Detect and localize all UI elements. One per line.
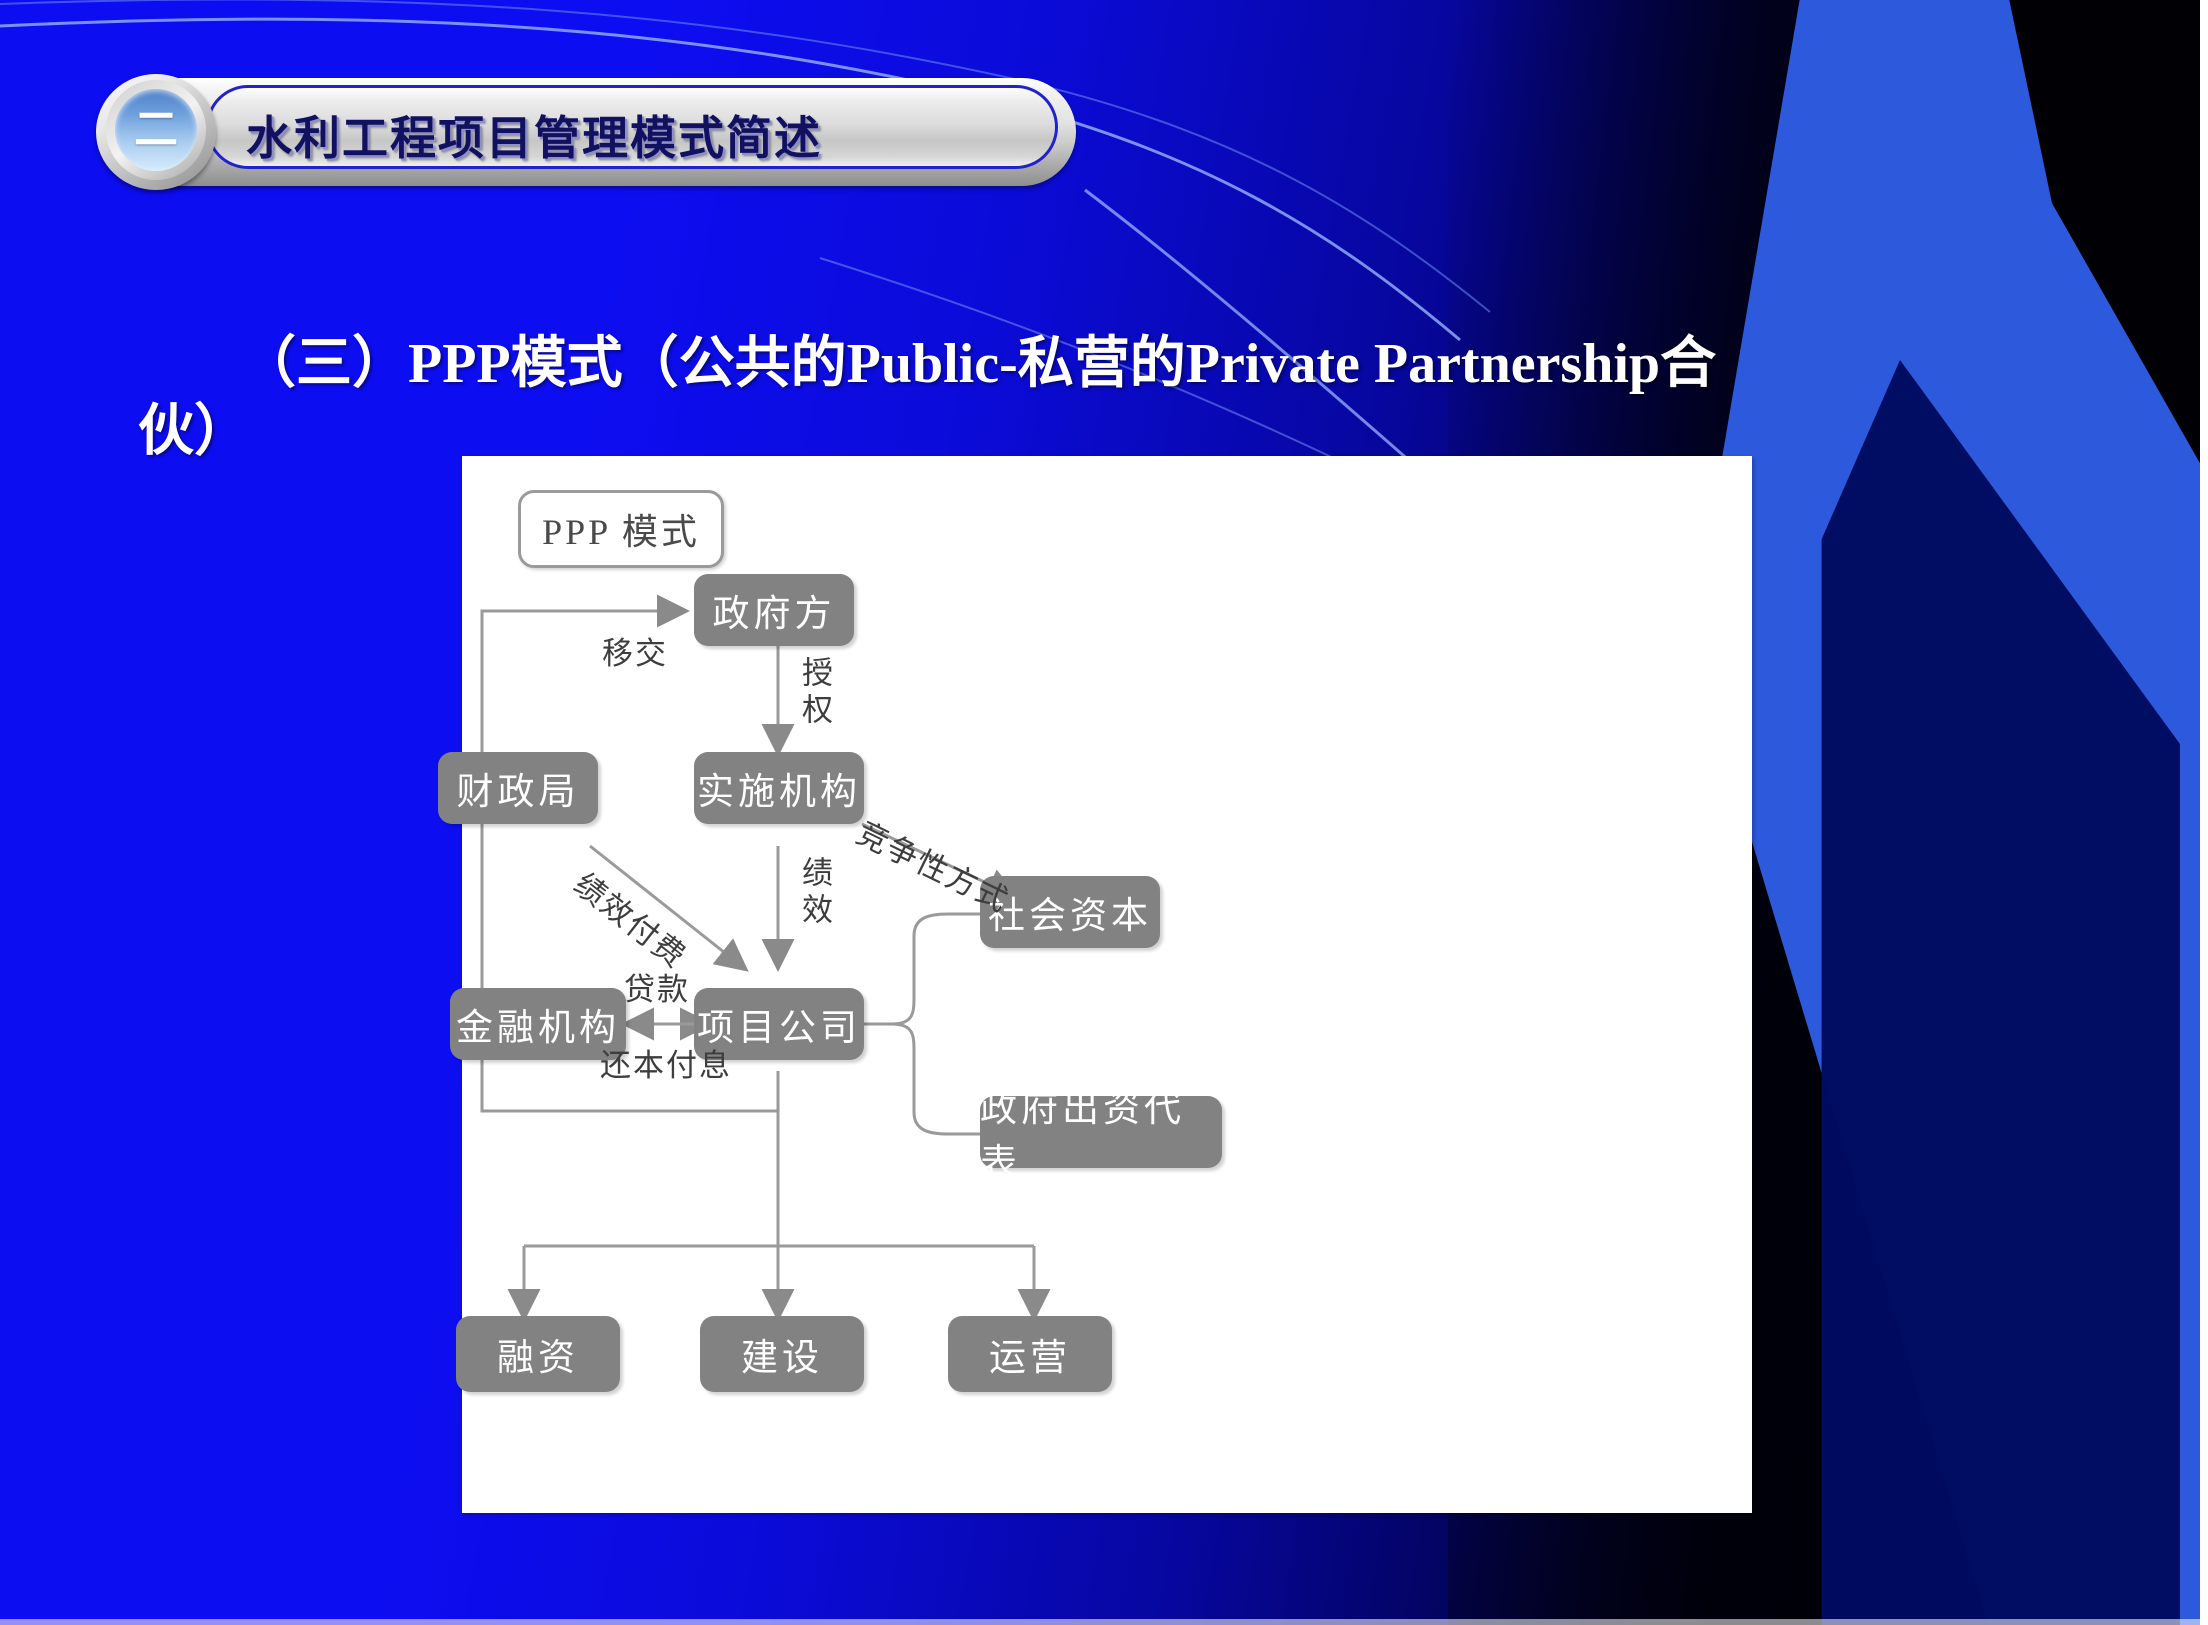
- node-financial-institution-label: 金融机构: [456, 997, 620, 1051]
- slide-bottom-edge: [0, 1619, 2208, 1625]
- diagram-title-label: PPP 模式: [542, 503, 700, 555]
- node-operation-label: 运营: [989, 1327, 1071, 1381]
- edge-label-loan: 贷款: [624, 964, 690, 1009]
- node-implementing-body-label: 实施机构: [697, 761, 861, 815]
- circle-number-badge-icon: 二: [115, 89, 197, 171]
- slide-heading: （三）PPP模式（公共的Public-私营的Private Partnershi…: [160, 330, 2060, 467]
- banner-badge: 二: [96, 74, 216, 190]
- node-financing-label: 融资: [497, 1327, 579, 1381]
- heading-line-1: （三）PPP模式（公共的Public-私营的Private Partnershi…: [240, 330, 2060, 398]
- slide-right-edge: [2200, 0, 2208, 1625]
- node-finance-bureau[interactable]: 财政局: [438, 752, 598, 824]
- node-construction[interactable]: 建设: [700, 1316, 864, 1392]
- node-government-label: 政府方: [713, 583, 836, 637]
- node-finance-bureau-label: 财政局: [457, 761, 580, 815]
- node-operation[interactable]: 运营: [948, 1316, 1112, 1392]
- ppp-model-flowchart: PPP 模式 政府方 财政局 实施机构 金融机构 项目公司 社会资本 政府出资代…: [462, 456, 1752, 1513]
- edge-label-transfer: 移交: [602, 628, 668, 673]
- node-construction-label: 建设: [741, 1327, 823, 1381]
- slide-title-banner: 水利工程项目管理模式简述 二: [96, 78, 1076, 186]
- slide-title-text: 水利工程项目管理模式简述: [246, 102, 1006, 168]
- node-government-investor-rep-label: 政府出资代表: [980, 1078, 1222, 1186]
- edge-label-authorize: 授权: [792, 656, 837, 740]
- node-social-capital-label: 社会资本: [988, 885, 1152, 939]
- node-government-investor-rep[interactable]: 政府出资代表: [980, 1096, 1222, 1168]
- node-financing[interactable]: 融资: [456, 1316, 620, 1392]
- edge-label-performance: 绩效: [792, 856, 837, 940]
- node-government[interactable]: 政府方: [694, 574, 854, 646]
- presentation-slide: 水利工程项目管理模式简述 二 （三）PPP模式（公共的Public-私营的Pri…: [0, 0, 2208, 1625]
- edge-label-repay-principal-interest: 还本付息: [600, 1040, 732, 1085]
- diagram-title-box: PPP 模式: [518, 490, 724, 568]
- node-implementing-body[interactable]: 实施机构: [694, 752, 864, 824]
- badge-number-label: 二: [134, 108, 178, 152]
